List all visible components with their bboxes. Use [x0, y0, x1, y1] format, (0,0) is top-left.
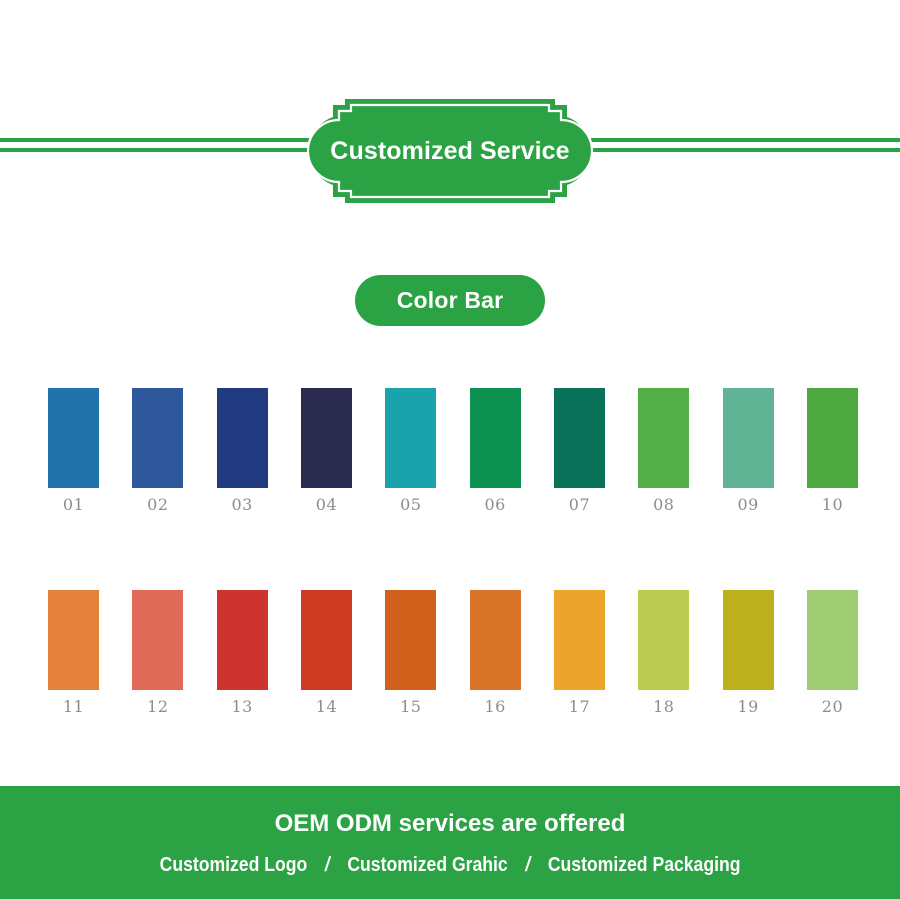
swatch-row-1: 01 02 03 04 05 06 07 08	[48, 388, 858, 513]
swatch-label: 19	[737, 699, 758, 715]
page-root: Customized Service Color Bar 01 02 03 04…	[0, 0, 900, 899]
swatch-chip[interactable]	[638, 388, 689, 488]
swatch-label: 11	[63, 699, 84, 715]
swatch-label: 16	[484, 699, 505, 715]
swatch-item[interactable]: 01	[48, 388, 99, 513]
swatch-row-2: 11 12 13 14 15 16 17 18	[48, 590, 858, 715]
swatch-label: 01	[63, 497, 84, 513]
swatch-item[interactable]: 09	[723, 388, 774, 513]
swatch-chip[interactable]	[470, 388, 521, 488]
swatch-item[interactable]: 04	[301, 388, 352, 513]
swatch-label: 05	[400, 497, 421, 513]
swatch-chip[interactable]	[217, 590, 268, 690]
swatch-item[interactable]: 03	[217, 388, 268, 513]
swatch-label: 15	[400, 699, 421, 715]
swatch-label: 18	[653, 699, 674, 715]
swatch-item[interactable]: 13	[217, 590, 268, 715]
swatch-label: 04	[316, 497, 337, 513]
swatch-label: 08	[653, 497, 674, 513]
swatch-item[interactable]: 15	[385, 590, 436, 715]
swatch-label: 12	[147, 699, 168, 715]
banner-title: Customized Service	[306, 96, 594, 206]
swatch-chip[interactable]	[301, 388, 352, 488]
footer-headline: OEM ODM services are offered	[275, 810, 626, 838]
swatch-chip[interactable]	[638, 590, 689, 690]
swatch-chip[interactable]	[807, 590, 858, 690]
swatch-label: 03	[231, 497, 252, 513]
swatch-chip[interactable]	[807, 388, 858, 488]
swatch-item[interactable]: 20	[807, 590, 858, 715]
swatch-item[interactable]: 02	[132, 388, 183, 513]
footer-separator: /	[307, 854, 347, 877]
header-banner: Customized Service	[0, 96, 900, 206]
swatch-label: 17	[569, 699, 590, 715]
swatch-chip[interactable]	[132, 590, 183, 690]
swatch-item[interactable]: 11	[48, 590, 99, 715]
swatch-chip[interactable]	[301, 590, 352, 690]
swatch-chip[interactable]	[217, 388, 268, 488]
swatch-chip[interactable]	[48, 590, 99, 690]
swatch-label: 07	[569, 497, 590, 513]
swatch-label: 20	[822, 699, 843, 715]
swatch-chip[interactable]	[470, 590, 521, 690]
swatch-chip[interactable]	[385, 590, 436, 690]
footer-separator: /	[508, 854, 548, 877]
swatch-chip[interactable]	[48, 388, 99, 488]
footer-service-item: Customized Grahic	[347, 854, 507, 877]
swatch-label: 09	[737, 497, 758, 513]
banner-plaque: Customized Service	[306, 96, 594, 206]
footer-band: OEM ODM services are offered Customized …	[0, 786, 900, 899]
swatch-label: 13	[231, 699, 252, 715]
swatch-label: 02	[147, 497, 168, 513]
swatch-item[interactable]: 16	[470, 590, 521, 715]
swatch-item[interactable]: 12	[132, 590, 183, 715]
color-bar-pill-label: Color Bar	[397, 287, 504, 314]
swatch-item[interactable]: 14	[301, 590, 352, 715]
swatch-item[interactable]: 05	[385, 388, 436, 513]
swatch-chip[interactable]	[723, 590, 774, 690]
swatch-chip[interactable]	[554, 388, 605, 488]
swatch-item[interactable]: 10	[807, 388, 858, 513]
footer-service-list: Customized Logo / Customized Grahic / Cu…	[160, 854, 741, 877]
swatch-item[interactable]: 08	[638, 388, 689, 513]
color-bar-pill: Color Bar	[355, 275, 545, 326]
swatch-item[interactable]: 18	[638, 590, 689, 715]
swatch-label: 06	[484, 497, 505, 513]
swatch-label: 10	[822, 497, 843, 513]
swatch-chip[interactable]	[554, 590, 605, 690]
swatch-item[interactable]: 17	[554, 590, 605, 715]
footer-service-item: Customized Logo	[160, 854, 308, 877]
swatch-item[interactable]: 07	[554, 388, 605, 513]
swatch-item[interactable]: 19	[723, 590, 774, 715]
swatch-item[interactable]: 06	[470, 388, 521, 513]
swatch-chip[interactable]	[385, 388, 436, 488]
swatch-chip[interactable]	[723, 388, 774, 488]
swatch-chip[interactable]	[132, 388, 183, 488]
footer-service-item: Customized Packaging	[548, 854, 741, 877]
swatch-label: 14	[316, 699, 337, 715]
